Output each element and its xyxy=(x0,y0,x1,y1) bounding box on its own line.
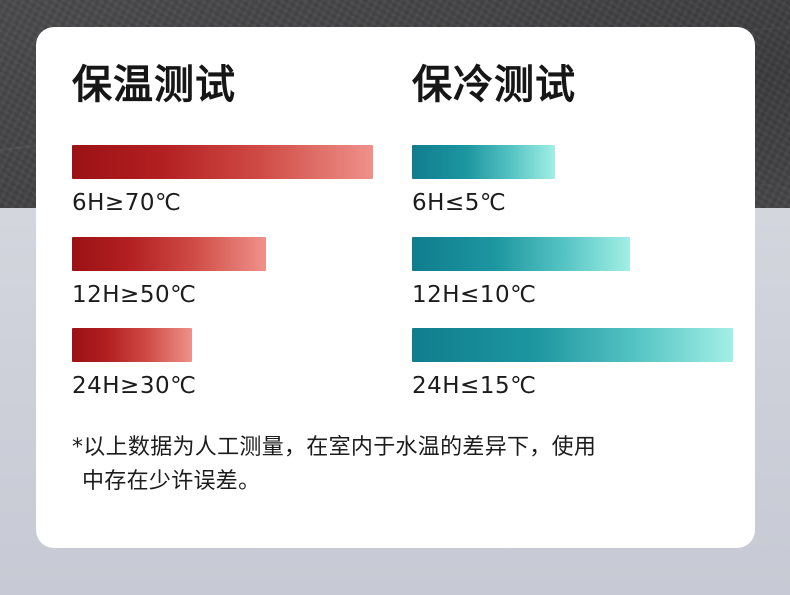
metric-row: 12H≥50℃ xyxy=(72,237,266,308)
bar-cold-24h xyxy=(412,328,733,362)
metric-row: 12H≤10℃ xyxy=(412,237,630,308)
bar-heat-24h xyxy=(72,328,192,362)
label-cold-6h: 6H≤5℃ xyxy=(412,190,555,216)
metric-row: 6H≤5℃ xyxy=(412,145,555,216)
label-cold-24h: 24H≤15℃ xyxy=(412,373,733,399)
footnote-disclaimer: *以上数据为人工测量，在室内于水温的差异下，使用 中存在少许误差。 xyxy=(72,431,712,499)
label-cold-12h: 12H≤10℃ xyxy=(412,282,630,308)
heading-cold-retention: 保冷测试 xyxy=(412,65,576,105)
metric-row: 24H≥30℃ xyxy=(72,328,196,399)
bar-cold-12h xyxy=(412,237,630,271)
heading-heat-retention: 保温测试 xyxy=(72,65,236,105)
footnote-line-2: 中存在少许误差。 xyxy=(72,465,712,499)
bar-cold-6h xyxy=(412,145,555,179)
product-spec-infographic: 保温测试 6H≥70℃ 12H≥50℃ 24H≥30℃ 保冷测试 6H≤5℃ xyxy=(0,0,790,595)
label-heat-12h: 12H≥50℃ xyxy=(72,282,266,308)
spec-card: 保温测试 6H≥70℃ 12H≥50℃ 24H≥30℃ 保冷测试 6H≤5℃ xyxy=(36,27,755,548)
bar-heat-6h xyxy=(72,145,373,179)
footnote-line-1: *以上数据为人工测量，在室内于水温的差异下，使用 xyxy=(72,435,596,460)
metric-row: 6H≥70℃ xyxy=(72,145,373,216)
metric-row: 24H≤15℃ xyxy=(412,328,733,399)
label-heat-24h: 24H≥30℃ xyxy=(72,373,196,399)
bar-heat-12h xyxy=(72,237,266,271)
label-heat-6h: 6H≥70℃ xyxy=(72,190,373,216)
